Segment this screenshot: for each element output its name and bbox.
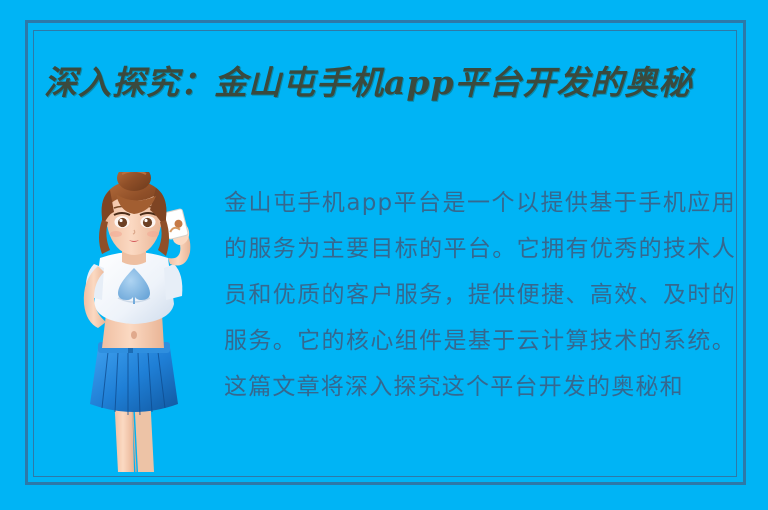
navel-shape xyxy=(131,331,137,339)
body-paragraph: 金山屯手机app平台是一个以提供基于手机应用的服务为主要目标的平台。它拥有优秀的… xyxy=(224,180,736,410)
anime-girl-illustration xyxy=(58,172,208,477)
page-title: 深入探究：金山屯手机app平台开发的奥秘 xyxy=(44,58,734,108)
poster-canvas: 深入探究：金山屯手机app平台开发的奥秘 xyxy=(0,0,768,510)
anime-girl-figure xyxy=(58,172,208,477)
pleated-skirt-shape xyxy=(90,342,178,415)
